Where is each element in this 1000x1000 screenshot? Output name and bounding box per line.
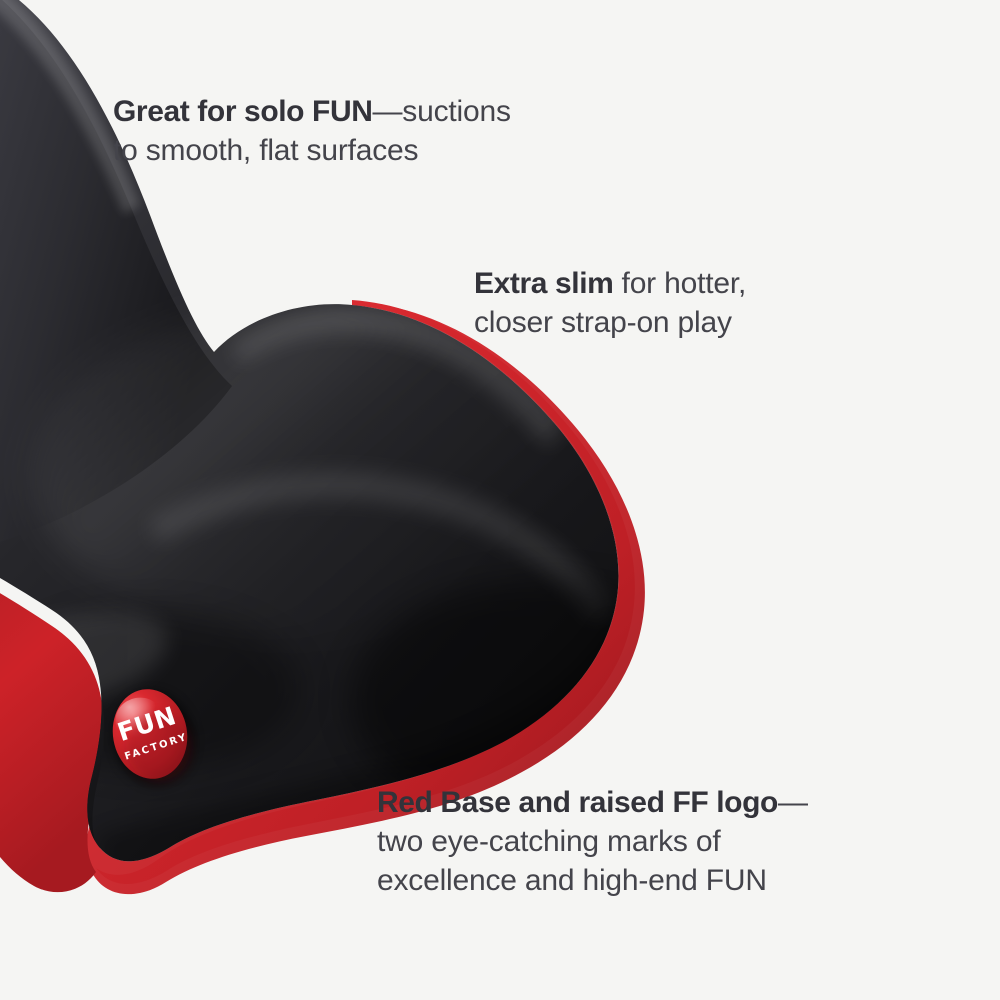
caption-solo-fun-line-2: to smooth, flat surfaces [113,131,511,170]
caption-extra-slim-regular: for hotter, [613,267,746,300]
caption-solo-fun: Great for solo FUN—suctions to smooth, f… [113,92,511,170]
caption-solo-fun-regular: —suctions [373,95,511,128]
infographic-canvas: FUN FACTORY Great for solo FUN—suctions … [0,0,1000,1000]
caption-red-base-line-2: two eye-catching marks of [377,822,808,861]
caption-solo-fun-bold: Great for solo FUN [113,95,373,128]
caption-extra-slim-line-1: Extra slim for hotter, [474,264,746,303]
caption-extra-slim: Extra slim for hotter, closer strap-on p… [474,264,746,342]
caption-extra-slim-line-2: closer strap-on play [474,303,746,342]
caption-red-base-bold: Red Base and raised FF logo [377,786,778,819]
caption-red-base: Red Base and raised FF logo— two eye-cat… [377,783,808,900]
caption-red-base-line-1: Red Base and raised FF logo— [377,783,808,822]
caption-extra-slim-bold: Extra slim [474,267,613,300]
caption-red-base-line-3: excellence and high-end FUN [377,861,808,900]
caption-red-base-regular: — [778,786,808,819]
caption-solo-fun-line-1: Great for solo FUN—suctions [113,92,511,131]
